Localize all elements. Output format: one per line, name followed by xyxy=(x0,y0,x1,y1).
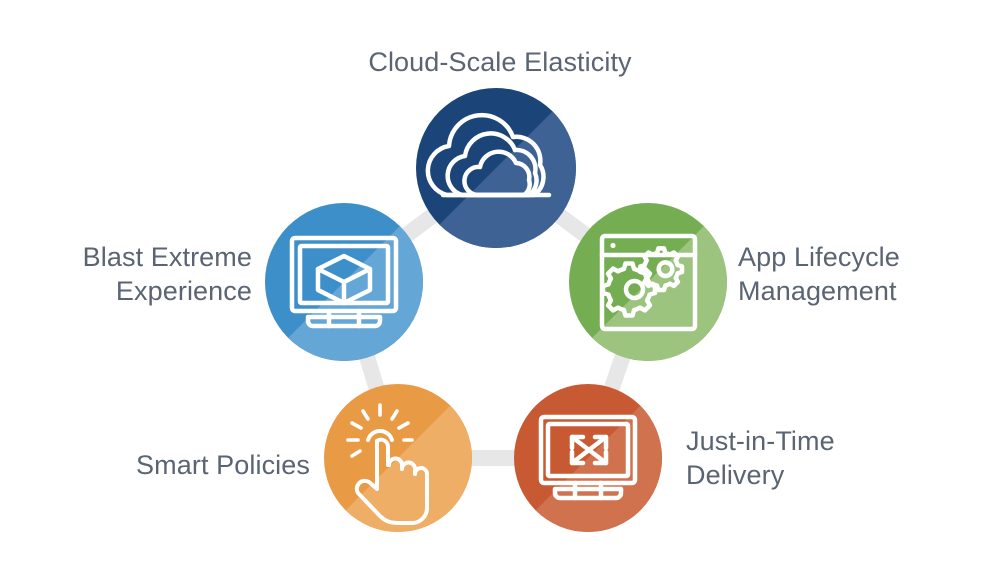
label-just-in-time-delivery: Just-in-Time Delivery xyxy=(686,424,986,492)
node-just-in-time-delivery[interactable] xyxy=(514,384,662,532)
label-app-lifecycle-management: App Lifecycle Management xyxy=(738,240,988,308)
label-blast-extreme-experience: Blast Extreme Experience xyxy=(10,240,252,308)
label-smart-policies: Smart Policies xyxy=(10,448,310,482)
label-cloud-scale-elasticity: Cloud-Scale Elasticity xyxy=(250,45,750,79)
node-smart-policies[interactable] xyxy=(324,384,472,532)
pentagon-cycle-diagram: Cloud-Scale Elasticity App Lifecycle Man… xyxy=(0,0,994,572)
node-blast-extreme-experience[interactable] xyxy=(265,203,423,361)
node-app-lifecycle-management[interactable] xyxy=(569,203,727,361)
node-cloud-scale-elasticity[interactable] xyxy=(416,88,576,248)
